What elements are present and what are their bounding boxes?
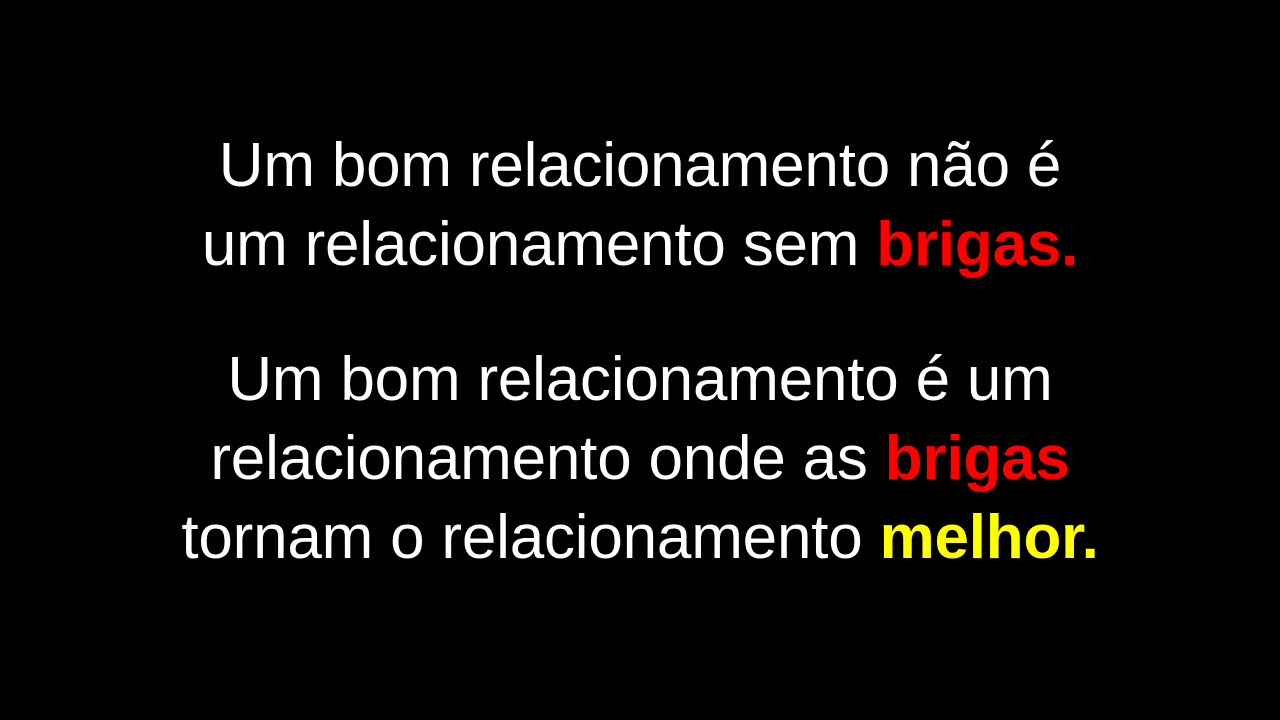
quote-line-4-text: relacionamento onde as <box>210 424 884 493</box>
highlight-brigas: brigas <box>885 424 1070 493</box>
highlight-brigas-period: brigas. <box>876 210 1078 279</box>
quote-line-3-text: Um bom relacionamento é um <box>227 345 1052 414</box>
quote-paragraph-two: Um bom relacionamento é um relacionament… <box>50 340 1230 577</box>
quote-line-5: tornam o relacionamento melhor. <box>50 498 1230 577</box>
quote-paragraph-one: Um bom relacionamento não é um relaciona… <box>50 126 1230 284</box>
quote-line-1: Um bom relacionamento não é <box>50 126 1230 205</box>
paragraph-spacer <box>0 284 1280 340</box>
quote-slide: Um bom relacionamento não é um relaciona… <box>0 0 1280 720</box>
highlight-melhor: melhor. <box>880 503 1099 572</box>
quote-line-4: relacionamento onde as brigas <box>50 419 1230 498</box>
quote-line-2: um relacionamento sem brigas. <box>50 205 1230 284</box>
quote-line-1-text: Um bom relacionamento não é <box>219 131 1061 200</box>
quote-line-3: Um bom relacionamento é um <box>50 340 1230 419</box>
quote-line-5-text: tornam o relacionamento <box>181 503 879 572</box>
quote-line-2-text: um relacionamento sem <box>202 210 876 279</box>
